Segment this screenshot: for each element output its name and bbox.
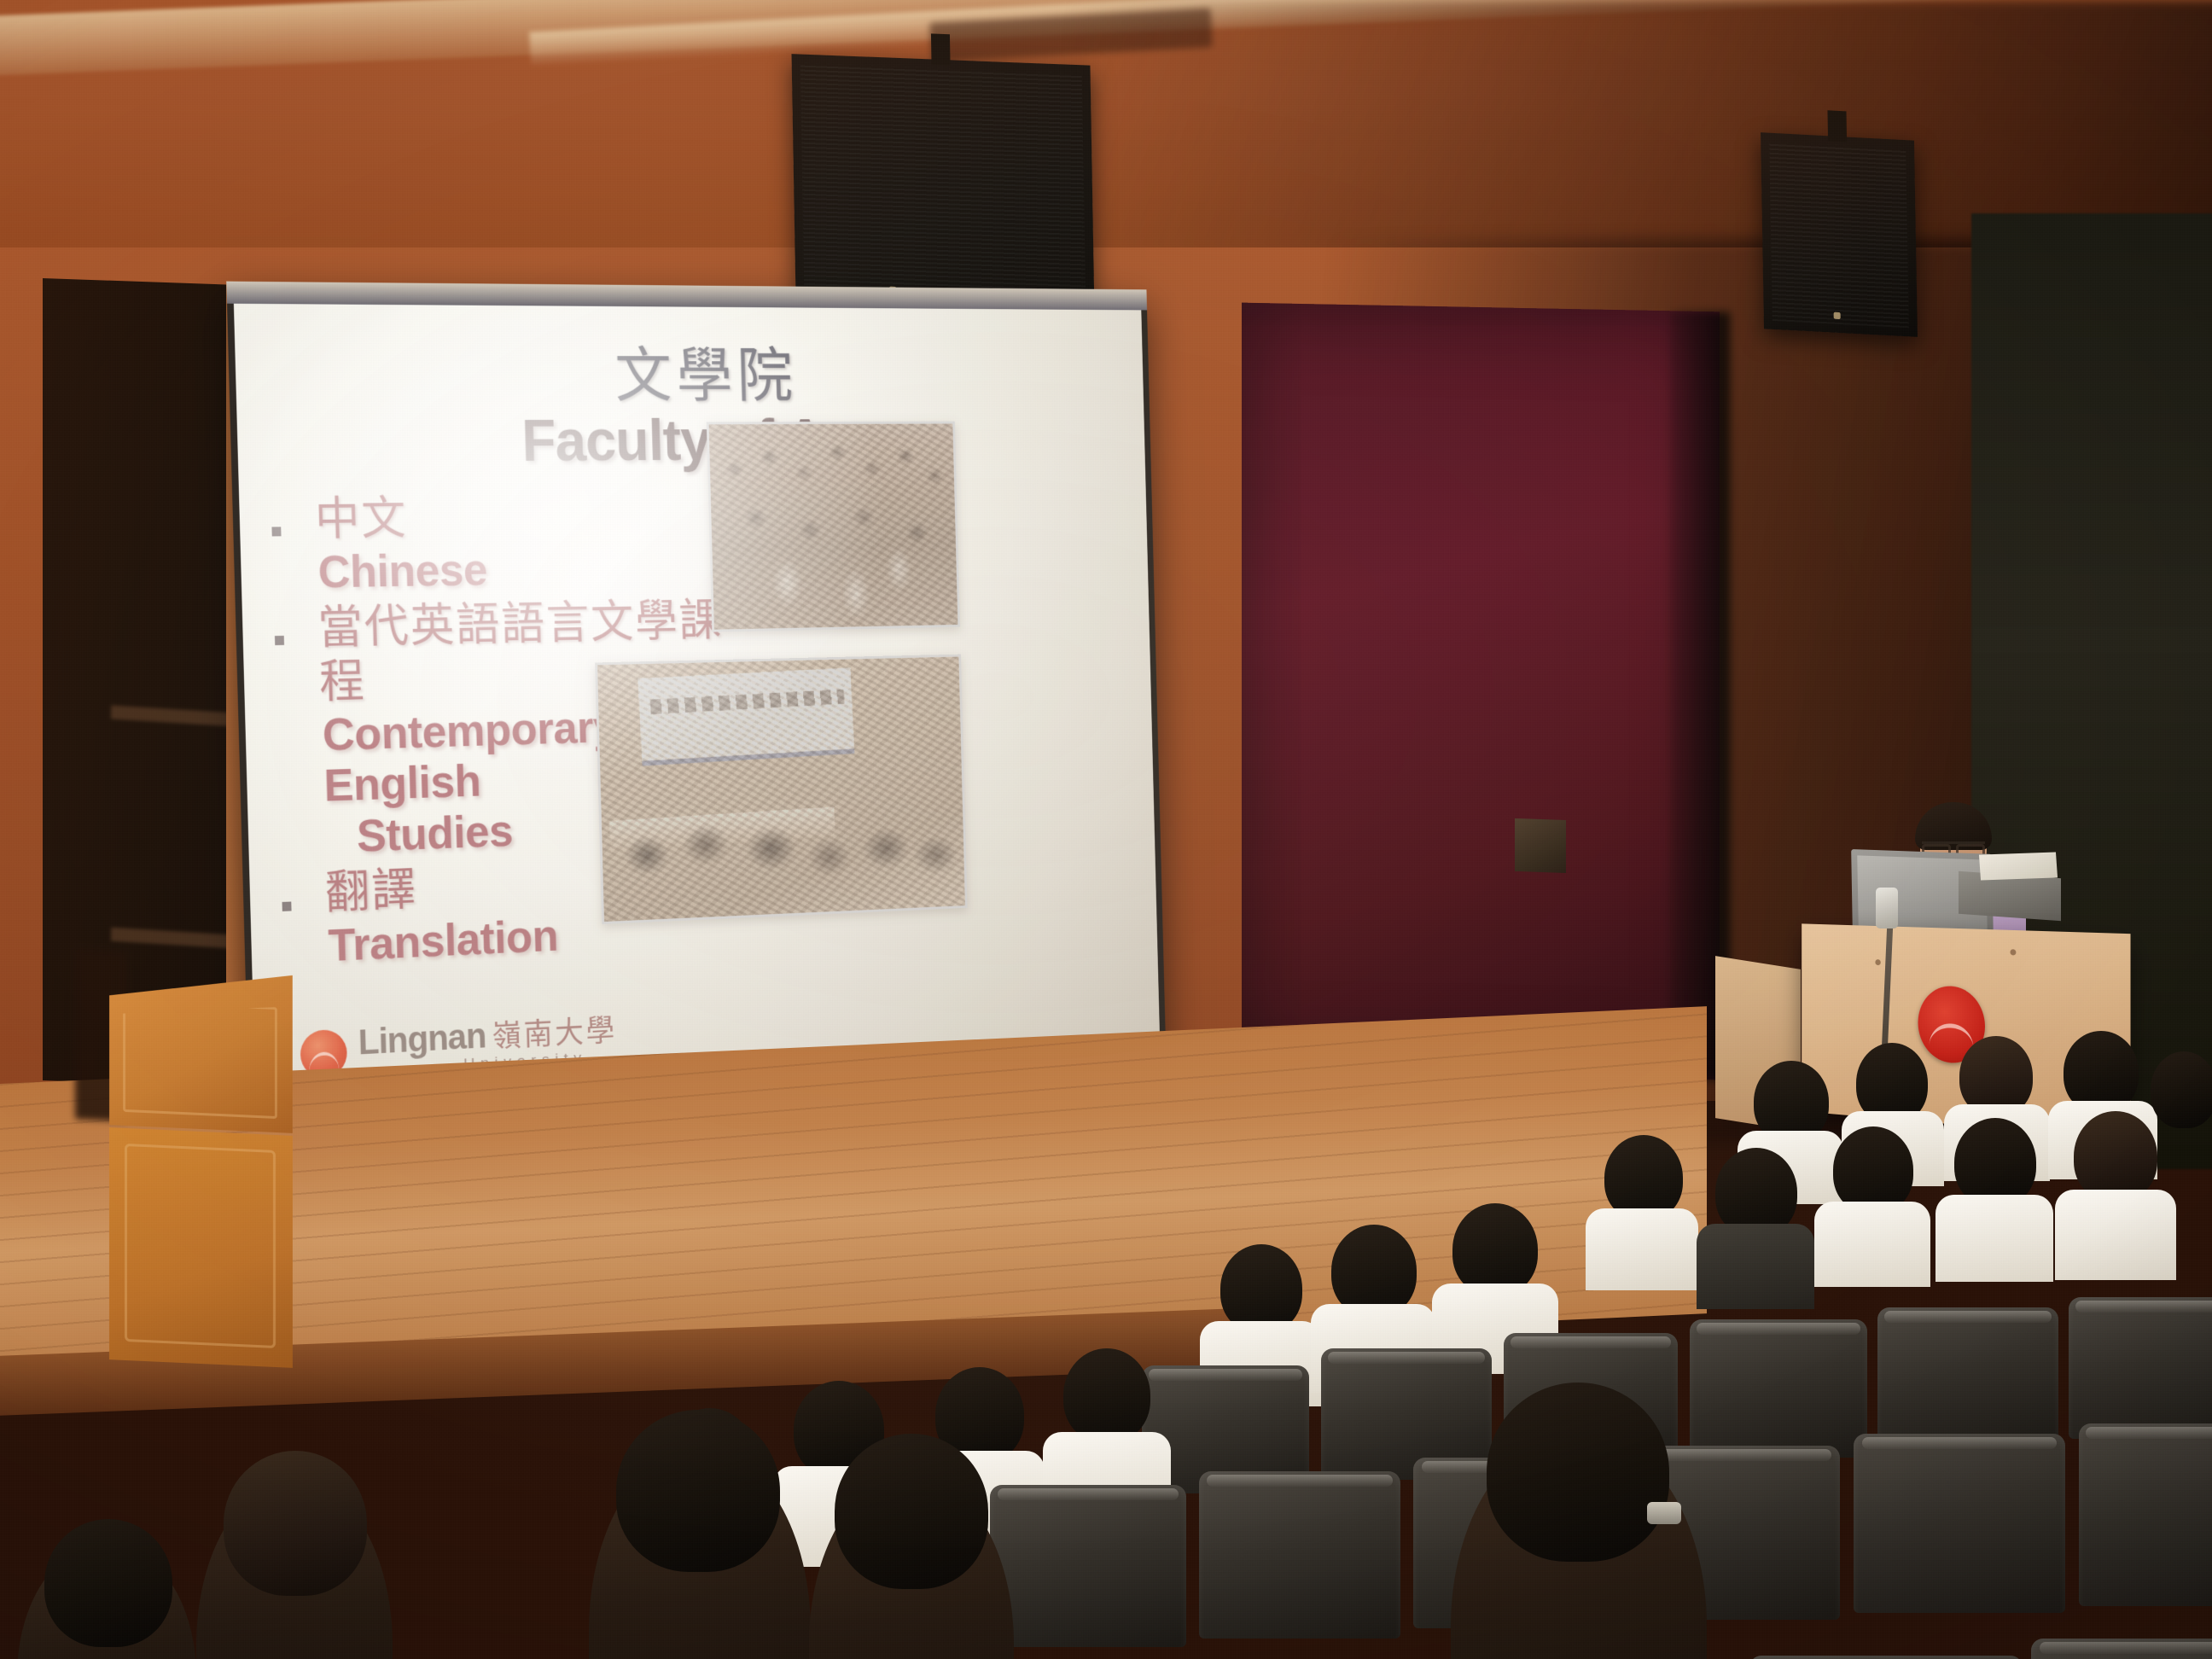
audience-head xyxy=(1063,1348,1150,1442)
audience-uniform xyxy=(1697,1224,1814,1309)
slide-photo-seminar xyxy=(595,655,967,924)
seat-headrest xyxy=(2040,1642,2212,1654)
audience-uniform xyxy=(1814,1202,1930,1287)
auditorium-seat xyxy=(2031,1639,2212,1659)
audience-head xyxy=(835,1434,988,1589)
auditorium-seat xyxy=(2079,1423,2212,1606)
seat-headrest xyxy=(2075,1301,2212,1313)
seat-headrest xyxy=(1328,1352,1485,1364)
podium-papers xyxy=(1979,852,2058,880)
slide-photo-graduation-crowd xyxy=(707,422,960,632)
bullet-label-cn: 中文 xyxy=(264,489,748,547)
audience-head xyxy=(1220,1244,1302,1333)
audience-head xyxy=(224,1451,367,1596)
audience-head xyxy=(44,1519,172,1647)
audience-head xyxy=(1331,1225,1417,1317)
seat-headrest xyxy=(998,1488,1179,1500)
slide-title-english: Faculty of Arts xyxy=(236,406,1145,475)
audience-head xyxy=(1954,1118,2036,1207)
speaker-grille xyxy=(800,63,1086,305)
audience-uniform xyxy=(1586,1208,1698,1290)
bullet-label-en: Chinese xyxy=(265,541,749,599)
seat-headrest xyxy=(1207,1475,1392,1487)
audience-uniform xyxy=(2055,1190,2176,1280)
audience-uniform xyxy=(1935,1195,2053,1282)
microphone-icon xyxy=(1876,888,1898,928)
auditorium-seat xyxy=(1690,1319,1867,1458)
auditorium-seat xyxy=(1877,1307,2058,1447)
seat-headrest xyxy=(1697,1323,1860,1335)
podium-screw xyxy=(1875,959,1880,965)
seat-headrest xyxy=(2086,1427,2212,1439)
speaker-grille xyxy=(1769,142,1909,329)
equipment-box xyxy=(1515,818,1566,873)
ceiling-speaker-left xyxy=(791,54,1094,313)
auditorium-seat xyxy=(1749,1656,2023,1659)
audience-head xyxy=(1833,1126,1913,1214)
speaker-mount xyxy=(1827,110,1847,142)
wall-speaker-right xyxy=(1761,132,1918,337)
auditorium-seat xyxy=(1199,1471,1400,1639)
auditorium-seat xyxy=(990,1485,1186,1647)
audience-head xyxy=(616,1410,780,1572)
hair-accessory xyxy=(1647,1502,1681,1524)
seat-headrest xyxy=(1149,1369,1302,1381)
seat-headrest xyxy=(1862,1437,2057,1449)
audience-head xyxy=(1487,1382,1669,1562)
screen-surface: 文學院 Faculty of Arts 中文 Chinese 當代英語語言文學課… xyxy=(234,304,1161,1127)
bullet-marker-icon xyxy=(282,902,292,911)
podium-screw xyxy=(2010,949,2016,955)
audience-head xyxy=(2074,1111,2157,1202)
bullet-marker-icon xyxy=(275,636,284,645)
photo-grain xyxy=(597,657,965,922)
speaker-mount xyxy=(931,33,951,65)
photo-grain xyxy=(709,424,958,630)
left-wall-recess xyxy=(43,278,239,1087)
speaker-screw xyxy=(1834,312,1841,319)
lecture-hall-photo: 文學院 Faculty of Arts 中文 Chinese 當代英語語言文學課… xyxy=(0,0,2212,1659)
presentation-slide: 文學院 Faculty of Arts 中文 Chinese 當代英語語言文學課… xyxy=(234,304,1161,1127)
bullet-item-chinese: 中文 Chinese xyxy=(264,489,749,599)
seat-headrest xyxy=(1511,1336,1671,1348)
audience-seating xyxy=(0,1007,2212,1659)
seat-headrest xyxy=(1884,1311,2051,1323)
audience-head xyxy=(1604,1135,1683,1220)
auditorium-seat xyxy=(1854,1434,2065,1613)
acoustic-panel-maroon xyxy=(1242,303,1720,1080)
slide-title-chinese: 文學院 xyxy=(235,324,1144,414)
seat-headrest xyxy=(1640,1449,1831,1461)
audience-head xyxy=(1452,1203,1538,1295)
bullet-marker-icon xyxy=(271,527,281,536)
auditorium-seat xyxy=(2069,1297,2212,1439)
audience-head xyxy=(2151,1051,2212,1128)
